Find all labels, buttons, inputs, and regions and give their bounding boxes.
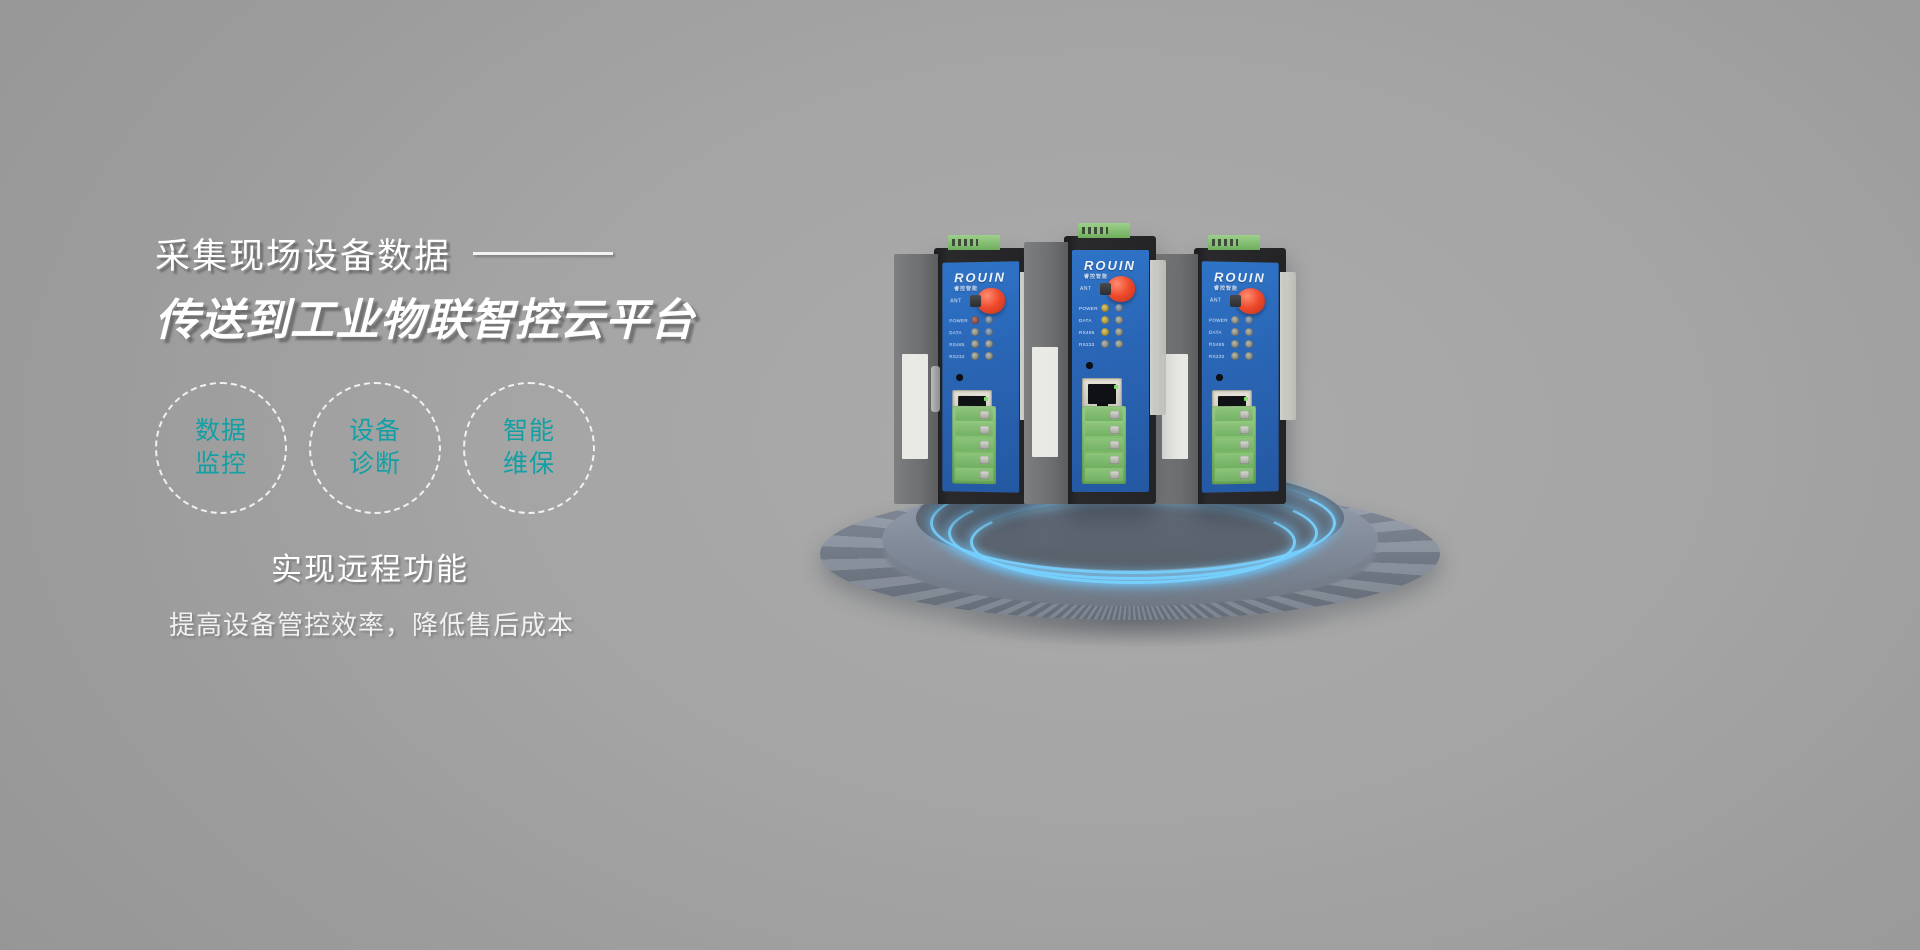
iot-gateway-device-right[interactable]: ROUIN 睿控智能 ANT POWER DAT [1194,248,1286,504]
led-row-power: POWER [1209,314,1272,327]
led-row-rs485: RS485 [1079,326,1142,338]
led-indicator [1101,316,1109,324]
feature-label-line-1: 数据 [195,415,247,448]
led-indicator [971,328,979,336]
led-indicator [1245,352,1253,360]
led-row-power: POWER [1079,302,1142,314]
led-indicator [1231,340,1239,348]
led-label: RS232 [1079,342,1101,347]
device-chassis: ROUIN 睿控智能 ANT POWER DAT [1194,248,1286,504]
led-indicator [971,352,979,360]
terminal-pin [955,437,993,451]
led-indicator [1115,316,1123,324]
terminal-pin [955,422,993,436]
footer-title: 实现远程功能 [271,544,855,589]
reset-button[interactable] [1086,362,1093,369]
screw-terminal-block [952,406,996,484]
led-indicator [985,316,993,324]
feature-circle-smart-maintenance[interactable]: 智能 维保 [463,382,595,514]
feature-label-line-1: 设备 [349,415,401,448]
power-terminal-connector [1208,235,1260,250]
antenna-connector-icon [977,288,1005,314]
device-spec-sticker [1032,347,1058,457]
led-row-data: DATA [1079,314,1142,326]
power-terminal-connector [948,235,1000,250]
terminal-pin [1215,422,1253,436]
device-front-panel: ROUIN 睿控智能 ANT POWER DAT [1202,261,1279,493]
led-indicator-group: POWER DATA RS485 [949,314,1012,362]
led-indicator [971,340,979,348]
device-side-panel [1024,242,1068,504]
screw-terminal-block [1212,406,1256,485]
device-chassis: ROUIN 睿控智能 ANT POWER DAT [934,248,1026,504]
reset-button[interactable] [1216,374,1223,381]
terminal-pin [1215,407,1253,421]
reset-button[interactable] [956,374,963,381]
feature-label-line-1: 智能 [503,415,555,448]
link-led-icon [1244,397,1248,401]
feature-circle-list: 数据 监控 设备 诊断 智能 维保 [155,382,855,514]
terminal-pin [955,467,993,481]
antenna-label: ANT [1080,286,1092,292]
led-indicator [1101,328,1109,336]
antenna-label: ANT [1210,298,1222,304]
led-indicator [1231,316,1239,324]
led-indicator [1245,340,1253,348]
footer-subtitle: 提高设备管控效率，降低售后成本 [169,605,855,642]
device-right-sticker [1280,272,1296,420]
device-front-panel: ROUIN 睿控智能 ANT POWER DAT [942,261,1019,493]
led-row-power: POWER [949,314,1012,327]
antenna-connector-icon [1107,276,1135,302]
terminal-pin [1085,423,1123,437]
product-scene: ROUIN 睿控智能 ANT POWER DAT [800,200,1540,660]
pedestal-glow-ring-3 [970,500,1296,584]
led-indicator [1231,352,1239,360]
headline-divider-rule [473,252,613,255]
feature-label-line-2: 维保 [503,448,555,481]
antenna-label: ANT [950,298,961,304]
terminal-pin [1215,437,1253,451]
led-indicator [985,340,993,348]
banner-background: 采集现场设备数据 传送到工业物联智控云平台 数据 监控 设备 诊断 智能 维保 … [0,0,1920,950]
terminal-pin [1085,453,1123,467]
led-indicator-group: POWER DATA RS485 [1079,302,1142,350]
headline-line-1: 采集现场设备数据 [155,228,451,279]
led-indicator [985,352,993,360]
led-row-data: DATA [949,326,1012,338]
led-label: POWER [1209,317,1231,322]
feature-circle-data-monitoring[interactable]: 数据 监控 [155,382,287,514]
led-label: RS232 [949,354,971,359]
iot-gateway-device-left[interactable]: ROUIN 睿控智能 ANT POWER DAT [934,248,1026,504]
power-terminal-connector [1078,223,1130,238]
terminal-pin [955,452,993,466]
terminal-pin [955,407,993,421]
device-right-sticker [1150,260,1166,415]
feature-circle-device-diagnosis[interactable]: 设备 诊断 [309,382,441,514]
device-group: ROUIN 睿控智能 ANT POWER DAT [912,214,1382,504]
antenna-connector-icon [1237,288,1265,314]
led-label: POWER [949,318,971,323]
led-label: DATA [1209,329,1231,334]
led-indicator [971,316,979,324]
led-indicator [1101,340,1109,348]
headline-row: 采集现场设备数据 [155,228,855,278]
led-indicator-group: POWER DATA RS485 [1209,314,1272,362]
device-spec-sticker [902,354,928,459]
terminal-pin [1215,452,1253,466]
led-indicator [1115,328,1123,336]
led-indicator [1245,328,1253,336]
device-chassis: ROUIN 睿控智能 ANT POWER DAT [1064,236,1156,504]
led-row-rs232: RS232 [1209,350,1272,362]
terminal-pin [1085,408,1123,422]
led-row-rs232: RS232 [949,350,1012,362]
led-label: RS485 [1079,330,1101,335]
led-indicator [1115,304,1123,312]
device-front-panel: ROUIN 睿控智能 ANT POWER DAT [1072,250,1149,492]
link-led-icon [984,397,988,401]
led-indicator [1245,316,1253,324]
led-label: RS485 [949,342,971,347]
headline-line-2: 传送到工业物联智控云平台 [155,284,855,348]
feature-label-line-2: 诊断 [349,448,401,481]
terminal-pin [1085,468,1123,482]
copy-block: 采集现场设备数据 传送到工业物联智控云平台 数据 监控 设备 诊断 智能 维保 … [155,228,855,642]
led-row-rs485: RS485 [1209,338,1272,350]
led-indicator [985,328,993,336]
led-label: RS485 [1209,341,1231,346]
led-row-rs485: RS485 [949,338,1012,350]
led-indicator [1115,340,1123,348]
led-row-data: DATA [1209,326,1272,338]
iot-gateway-device-center[interactable]: ROUIN 睿控智能 ANT POWER DAT [1064,236,1156,504]
led-label: DATA [949,330,971,335]
terminal-pin [1215,467,1253,481]
led-row-rs232: RS232 [1079,338,1142,350]
led-label: POWER [1079,306,1101,311]
led-label: DATA [1079,318,1101,323]
led-label: RS232 [1209,353,1231,358]
led-indicator [1231,328,1239,336]
terminal-pin [1085,438,1123,452]
link-led-icon [1114,385,1118,389]
led-indicator [1101,304,1109,312]
din-rail-clip [931,366,940,412]
feature-label-line-2: 监控 [195,448,247,481]
screw-terminal-block [1082,406,1126,484]
